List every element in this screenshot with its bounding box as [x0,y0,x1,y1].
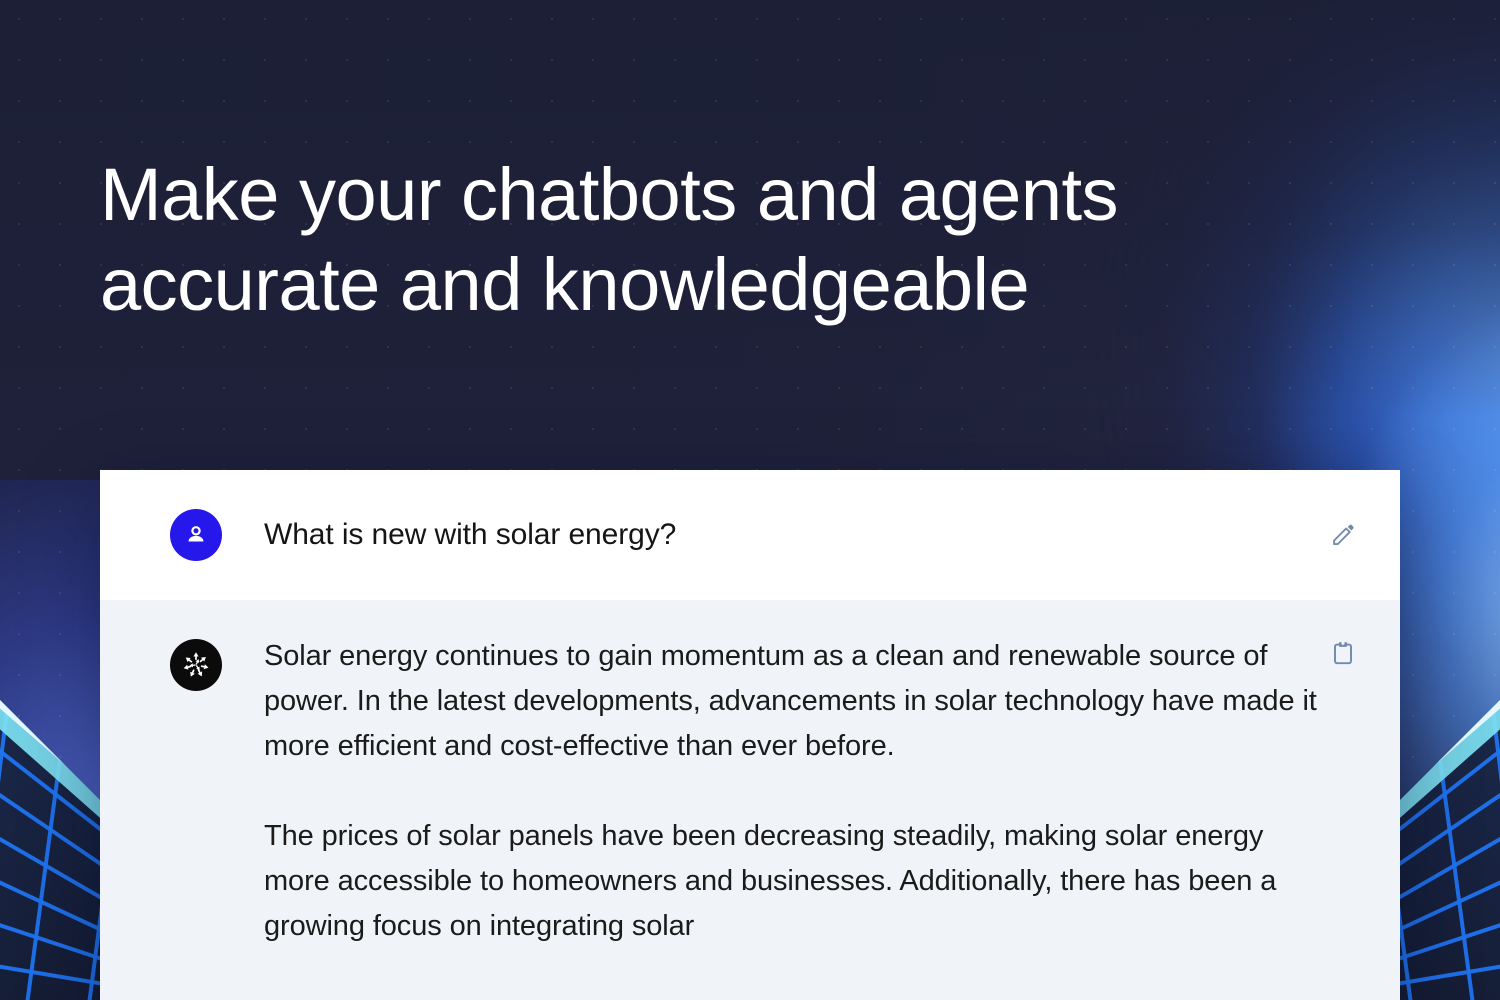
chat-message-assistant: Solar energy continues to gain momentum … [100,600,1400,1000]
user-question-text: What is new with solar energy? [264,516,1320,554]
clipboard-copy-icon [1330,640,1356,666]
person-icon [182,521,210,549]
user-avatar [170,509,222,561]
assistant-message-body: Solar energy continues to gain momentum … [222,634,1360,949]
user-message-body: What is new with solar energy? [222,516,1360,554]
agent-starburst-logo [179,648,213,682]
pencil-edit-icon [1330,522,1356,548]
copy-button[interactable] [1326,636,1360,670]
edit-button[interactable] [1326,518,1360,552]
chat-message-user: What is new with solar energy? [100,470,1400,600]
page-title: Make your chatbots and agents accurate a… [100,150,1300,330]
assistant-paragraph: Solar energy continues to gain momentum … [264,634,1320,769]
assistant-paragraph: The prices of solar panels have been dec… [264,814,1320,949]
assistant-avatar [170,639,222,691]
page-stage: Make your chatbots and agents accurate a… [0,0,1500,1000]
chat-card: What is new with solar energy? [100,470,1400,1000]
